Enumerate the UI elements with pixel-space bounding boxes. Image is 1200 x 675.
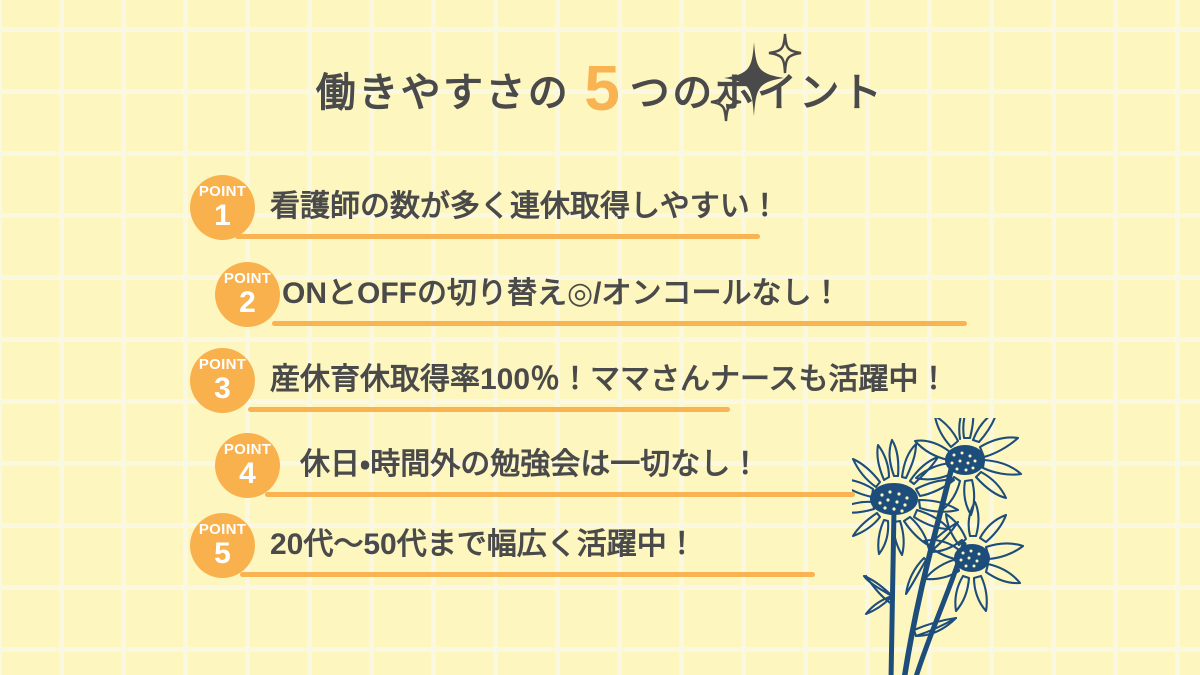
point-underline: [235, 234, 760, 239]
point-underline: [248, 407, 730, 412]
point-badge: POINT 2: [215, 262, 280, 327]
point-text: 20代〜50代まで幅広く活躍中！: [270, 530, 697, 560]
point-underline: [265, 492, 855, 497]
point-text: 看護師の数が多く連休取得しやすい！: [270, 192, 780, 222]
point-text: ONとOFFの切り替え◎/オンコールなし！: [282, 279, 842, 309]
point-underline: [240, 572, 815, 577]
point-row: POINT 2 ONとOFFの切り替え◎/オンコールなし！: [215, 262, 975, 340]
slide-canvas: 働きやすさの 5 つのポイント POINT 1 看護師の数が多く連休取得しやすい…: [0, 0, 1200, 675]
badge-label: POINT: [215, 442, 280, 457]
point-text: 休日・時間外の勉強会は一切なし！: [300, 450, 760, 480]
title-prefix: 働きやすさの: [316, 73, 570, 113]
badge-number: 4: [215, 459, 280, 489]
point-row: POINT 4 休日・時間外の勉強会は一切なし！: [215, 433, 975, 511]
badge-label: POINT: [190, 522, 255, 537]
badge-number: 3: [190, 374, 255, 404]
point-row: POINT 5 20代〜50代まで幅広く活躍中！: [190, 513, 950, 591]
title-number: 5: [584, 56, 620, 120]
badge-number: 2: [215, 288, 280, 318]
point-badge: POINT 5: [190, 513, 255, 578]
point-row: POINT 1 看護師の数が多く連休取得しやすい！: [190, 175, 790, 253]
badge-number: 5: [190, 539, 255, 569]
badge-label: POINT: [215, 271, 280, 286]
point-text: 産休育休取得率100％！ママさんナースも活躍中！: [270, 365, 949, 395]
point-row: POINT 3 産休育休取得率100％！ママさんナースも活躍中！: [190, 348, 950, 426]
page-title: 働きやすさの 5 つのポイント: [0, 52, 1200, 130]
badge-label: POINT: [190, 357, 255, 372]
point-underline: [272, 321, 967, 326]
point-badge: POINT 4: [215, 433, 280, 498]
badge-number: 1: [190, 201, 255, 231]
point-badge: POINT 3: [190, 348, 255, 413]
point-badge: POINT 1: [190, 175, 255, 240]
badge-label: POINT: [190, 184, 255, 199]
title-suffix: つのポイント: [630, 73, 884, 113]
